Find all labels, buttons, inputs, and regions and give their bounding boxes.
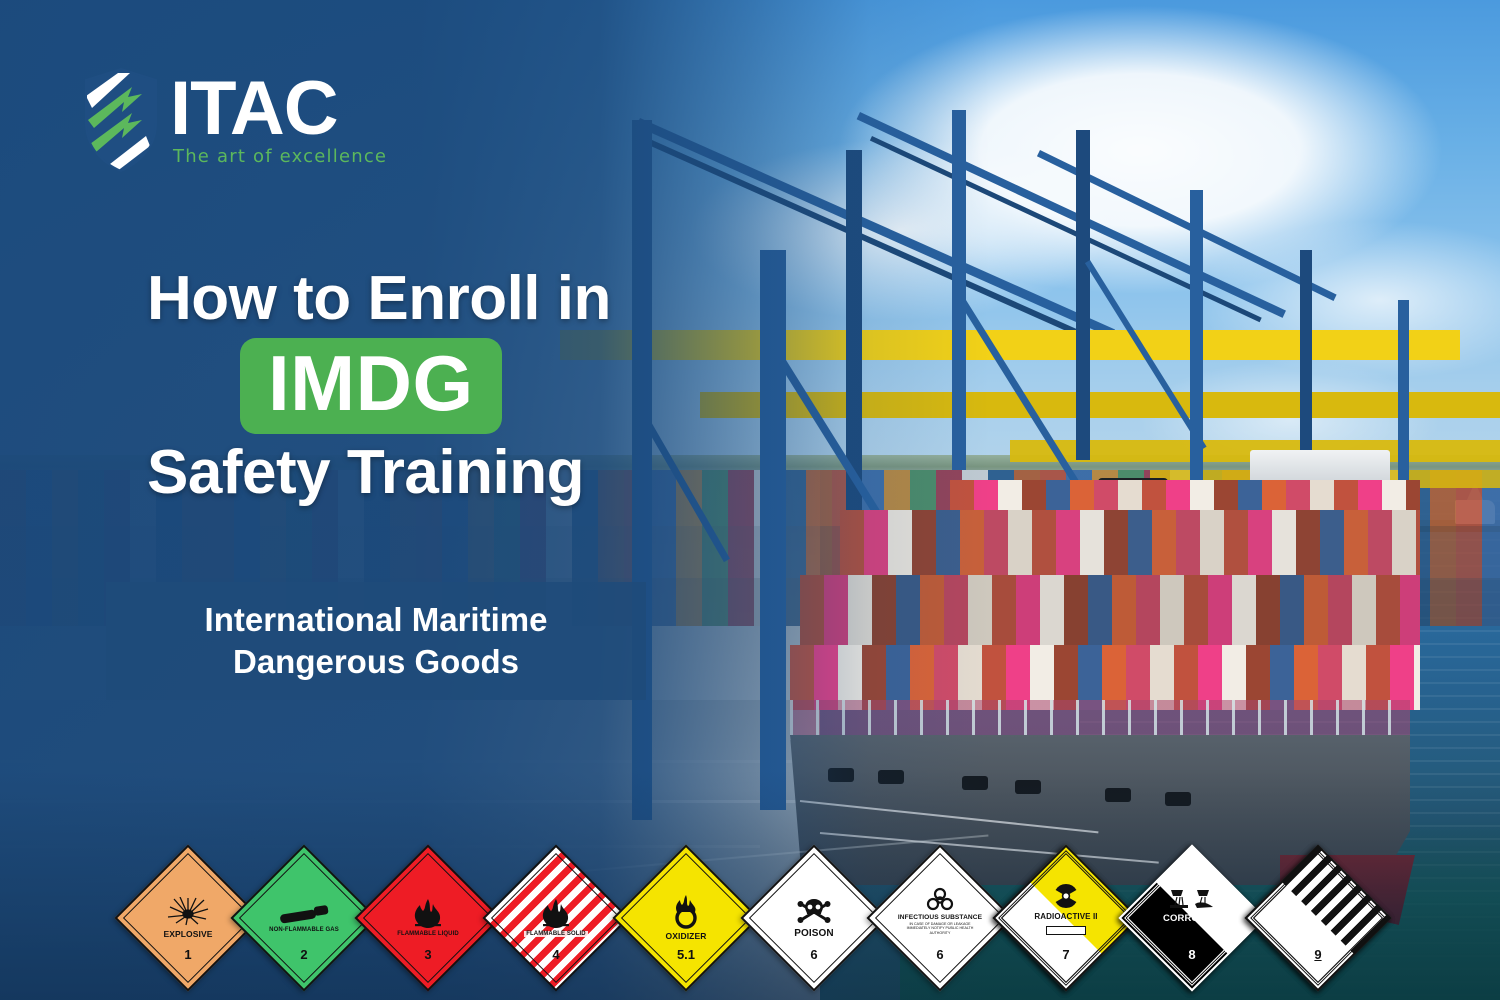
shield-arrows-icon: [84, 68, 158, 172]
brand-name: ITAC: [170, 73, 387, 144]
placard-label: POISON: [794, 928, 834, 939]
headline-line-3: Safety Training: [147, 442, 787, 504]
placard-label: FLAMMABLE SOLID: [524, 931, 588, 937]
radiation-icon: [1053, 883, 1079, 909]
placard-label: INFECTIOUS SUBSTANCE: [898, 914, 982, 921]
placard-label: EXPLOSIVE: [163, 929, 212, 939]
placard-label: RADIOACTIVE II: [1034, 912, 1097, 921]
placard-number: 8: [1140, 947, 1244, 962]
placard-number: 1: [136, 947, 240, 962]
corrosion-icon: [1169, 888, 1215, 910]
placard-label: NON-FLAMMABLE GAS: [269, 927, 339, 933]
placard-number: 6: [888, 947, 992, 962]
brand-tagline: The art of excellence: [173, 146, 387, 167]
biohazard-icon: [926, 886, 954, 912]
skull-crossbones-icon: [797, 898, 831, 926]
placard-label: CORROSIVE: [1163, 913, 1221, 924]
subtitle-line-1: International Maritime: [205, 599, 548, 641]
placard-flammable-liquid[interactable]: FLAMMABLE LIQUID 3: [376, 866, 480, 970]
placard-label: FLAMMABLE LIQUID: [397, 931, 459, 937]
placard-explosive[interactable]: EXPLOSIVE 1: [136, 866, 240, 970]
logo-wordmark: ITAC The art of excellence: [170, 73, 387, 167]
placard-number: 6: [762, 947, 866, 962]
placard-subtext: IN CASE OF DAMAGE OR LEAKAGE IMMEDIATELY…: [901, 922, 979, 935]
flame-icon: [539, 899, 573, 929]
placard-flammable-solid[interactable]: FLAMMABLE SOLID 4: [504, 866, 608, 970]
headline-block: How to Enroll in IMDG Safety Training: [147, 268, 787, 504]
itac-logo[interactable]: ITAC The art of excellence: [84, 68, 387, 172]
activity-box: [1046, 926, 1086, 935]
imdg-badge: IMDG: [240, 338, 502, 434]
placard-corrosive[interactable]: CORROSIVE 8: [1140, 866, 1244, 970]
placard-number: 7: [1014, 947, 1118, 962]
explosion-icon: [166, 897, 210, 927]
imdg-badge-label: IMDG: [268, 344, 474, 422]
subtitle-panel: International Maritime Dangerous Goods: [106, 582, 646, 700]
subtitle-line-2: Dangerous Goods: [233, 641, 519, 683]
flaming-o-icon: [669, 895, 703, 929]
placard-poison[interactable]: POISON 6: [762, 866, 866, 970]
poster-canvas: ITAC The art of excellence How to Enroll…: [0, 0, 1500, 1000]
placard-miscellaneous[interactable]: 9: [1266, 866, 1370, 970]
placard-number: 5.1: [634, 947, 738, 962]
placard-number: 2: [252, 947, 356, 962]
placard-number: 3: [376, 947, 480, 962]
placard-number: 4: [504, 947, 608, 962]
headline-line-1: How to Enroll in: [147, 268, 787, 330]
flame-icon: [411, 899, 445, 929]
hazard-placard-row: EXPLOSIVE 1 NON-FLAMMABLE GAS 2: [0, 858, 1500, 978]
placard-infectious-substance[interactable]: INFECTIOUS SUBSTANCE IN CASE OF DAMAGE O…: [888, 866, 992, 970]
placard-radioactive[interactable]: RADIOACTIVE II 7: [1014, 866, 1118, 970]
placard-non-flammable-gas[interactable]: NON-FLAMMABLE GAS 2: [252, 866, 356, 970]
gas-cylinder-icon: [278, 903, 330, 925]
placard-oxidizer[interactable]: OXIDIZER 5.1: [634, 866, 738, 970]
placard-number: 9: [1266, 947, 1370, 962]
headline-badge-row: IMDG: [147, 338, 787, 434]
placard-label: OXIDIZER: [666, 931, 707, 941]
